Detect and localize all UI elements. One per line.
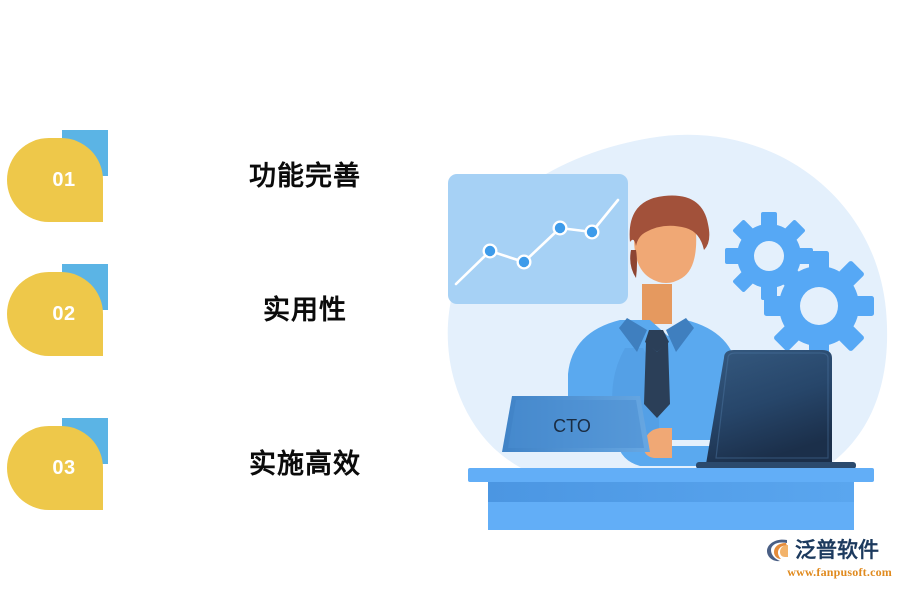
nameplate-label: CTO [553, 416, 591, 436]
feature-item-03[interactable]: 03 实施高效 [0, 415, 440, 511]
brand-url: www.fanpusoft.com [766, 565, 892, 580]
badge-number: 02 [7, 272, 103, 356]
feature-item-01[interactable]: 01 功能完善 [0, 127, 440, 223]
brand-name: 泛普软件 [795, 540, 879, 561]
feature-label: 实用性 [180, 261, 430, 353]
badge-number: 03 [7, 426, 103, 510]
slide-canvas: 01 功能完善 02 实用性 03 实施高效 [0, 0, 900, 600]
badge-number: 01 [7, 138, 103, 222]
feature-badge-02: 02 [7, 264, 107, 356]
nameplate-cto: CTO [502, 396, 650, 452]
chart-panel [448, 174, 628, 304]
feature-label: 实施高效 [180, 415, 430, 507]
feature-badge-01: 01 [7, 130, 107, 222]
desk [468, 468, 874, 530]
feature-label: 功能完善 [180, 127, 430, 219]
fanpu-swoosh-icon [766, 537, 792, 563]
feature-item-02[interactable]: 02 实用性 [0, 261, 440, 357]
feature-badge-03: 03 [7, 418, 107, 510]
illustration-cto-at-desk: CTO [420, 110, 900, 530]
brand-logo[interactable]: 泛普软件 www.fanpusoft.com [766, 537, 892, 585]
feature-list: 01 功能完善 02 实用性 03 实施高效 [0, 0, 440, 600]
